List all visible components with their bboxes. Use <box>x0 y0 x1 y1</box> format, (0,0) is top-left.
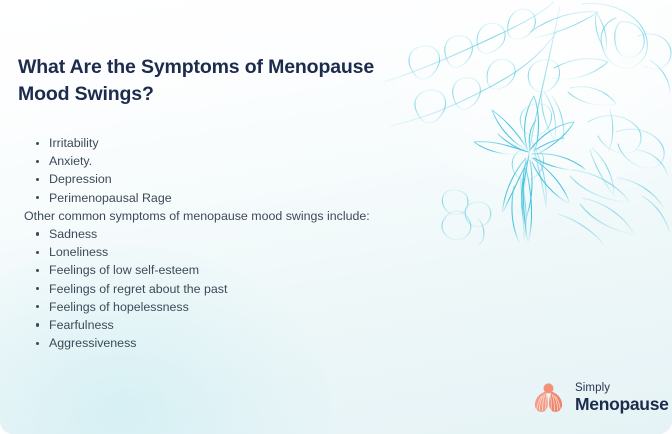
list-item: Aggressiveness <box>0 334 470 352</box>
list-item: Fearfulness <box>0 316 470 334</box>
list-item: Irritability <box>0 134 470 152</box>
infographic-card: What Are the Symptoms of Menopause Mood … <box>0 0 672 434</box>
list-item: Feelings of low self-esteem <box>0 261 470 279</box>
list-item: Feelings of regret about the past <box>0 280 470 298</box>
primary-symptom-list: Irritability Anxiety. Depression Perimen… <box>0 134 470 207</box>
interstitial-text: Other common symptoms of menopause mood … <box>0 207 470 225</box>
brand-name-line1: Simply <box>575 383 669 395</box>
brand-logo: Simply Menopause <box>531 381 669 415</box>
symptoms-content: Irritability Anxiety. Depression Perimen… <box>0 134 470 352</box>
brand-logo-text: Simply Menopause <box>575 383 669 413</box>
infographic-canvas: What Are the Symptoms of Menopause Mood … <box>0 0 672 434</box>
list-item: Sadness <box>0 225 470 243</box>
list-item: Perimenopausal Rage <box>0 189 470 207</box>
list-item: Depression <box>0 170 470 188</box>
page-title: What Are the Symptoms of Menopause Mood … <box>18 54 418 108</box>
list-item: Feelings of hopelessness <box>0 298 470 316</box>
list-item: Anxiety. <box>0 152 470 170</box>
simply-menopause-wings-icon <box>531 381 566 415</box>
list-item: Loneliness <box>0 243 470 261</box>
brand-name-line2: Menopause <box>575 396 669 414</box>
secondary-symptom-list: Sadness Loneliness Feelings of low self-… <box>0 225 470 352</box>
